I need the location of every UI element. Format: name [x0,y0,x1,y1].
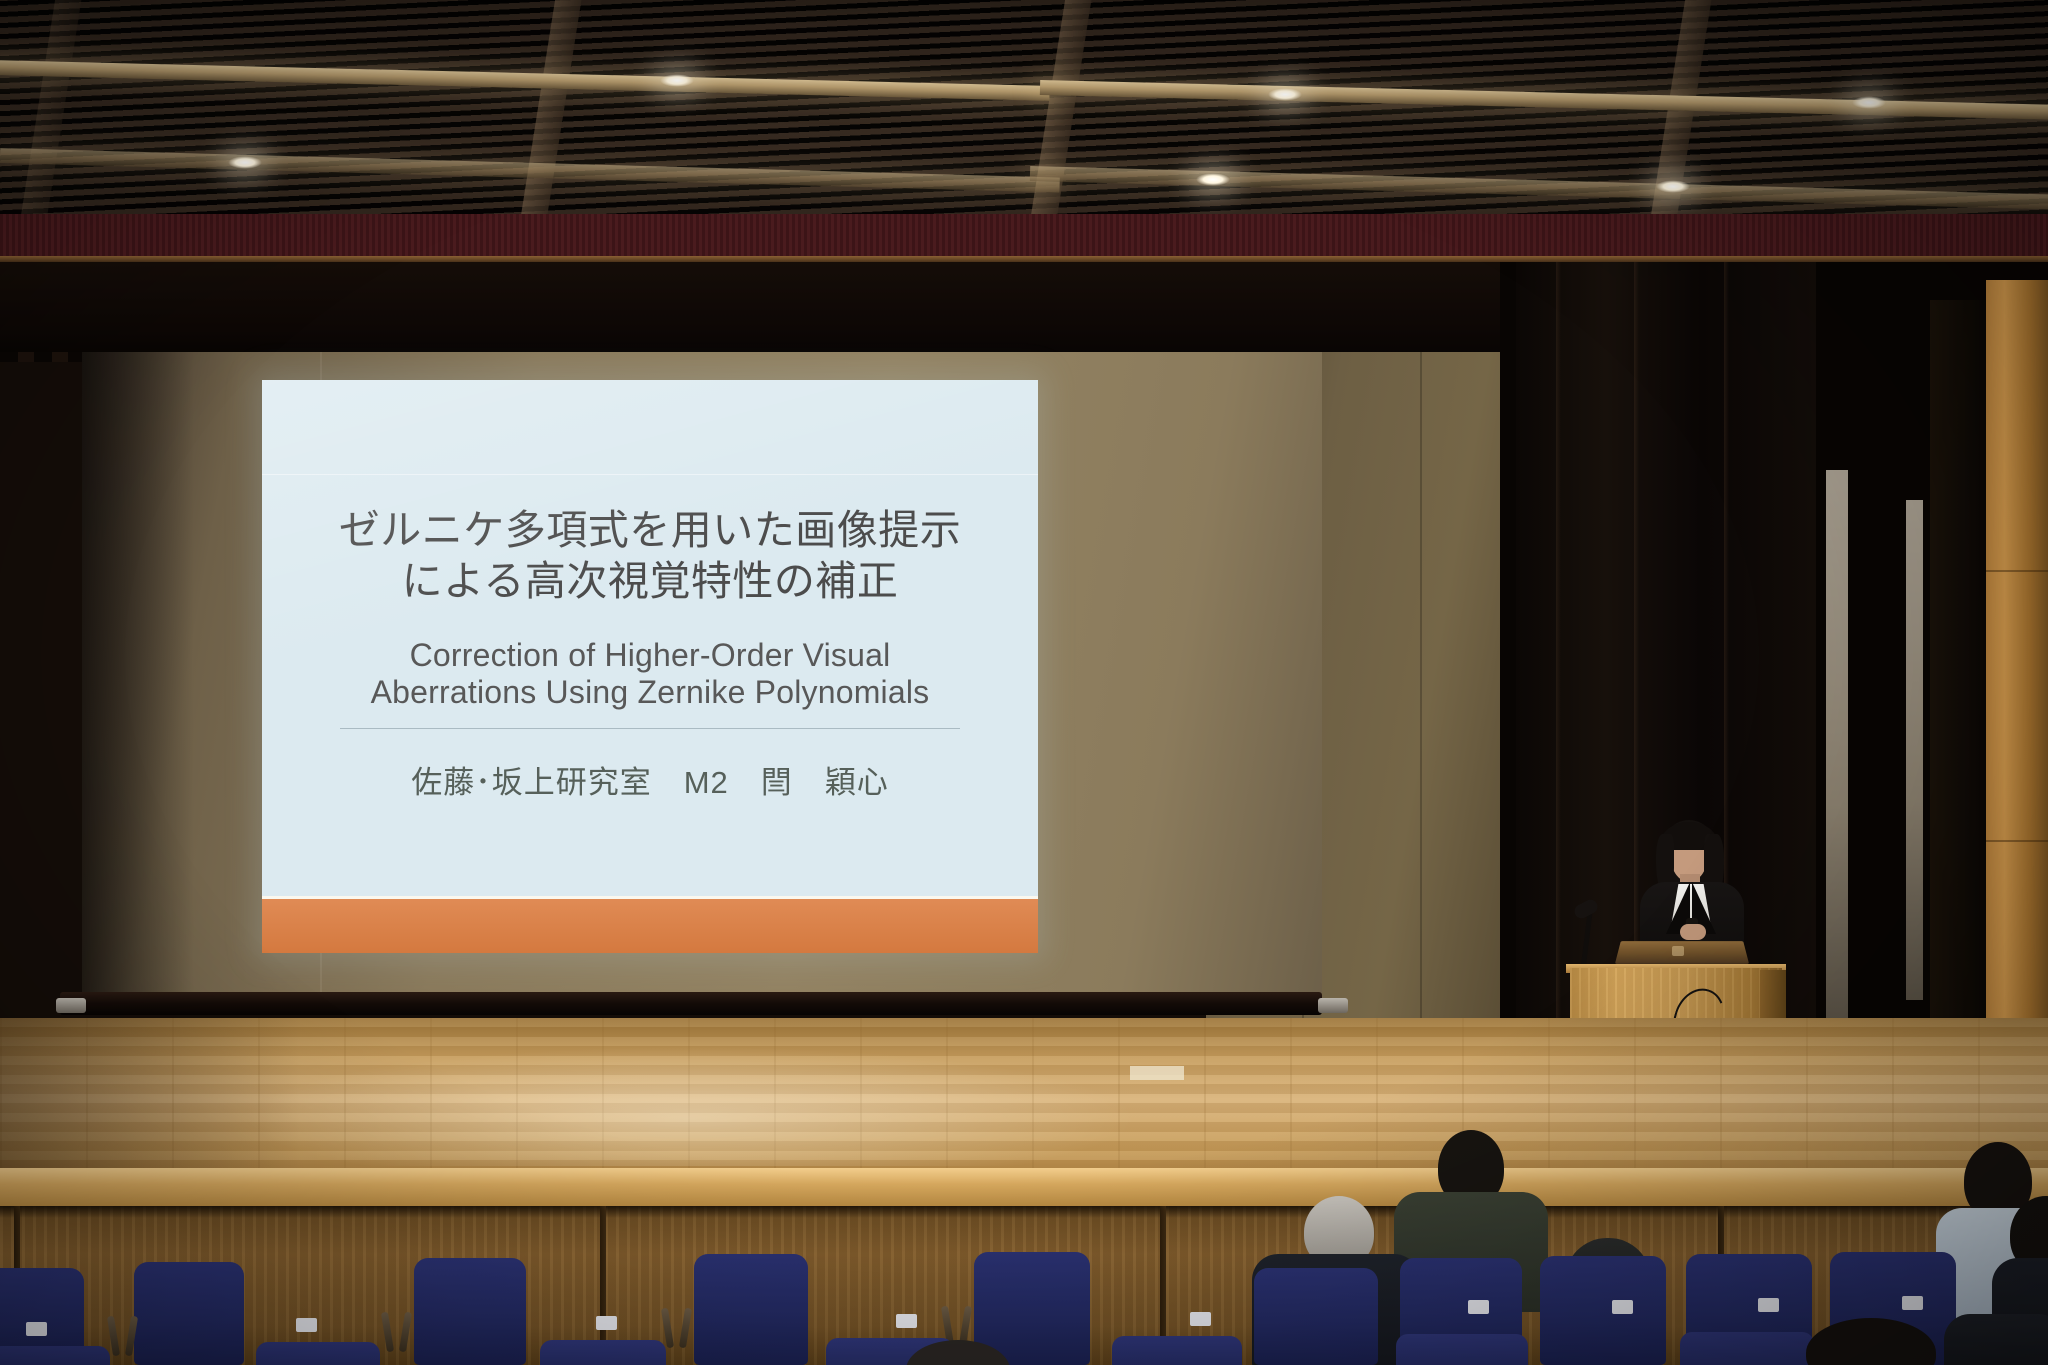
slide-title-line-1: ゼルニケ多項式を用いた画像提示 [339,505,962,556]
stage-front-lip [0,1168,2048,1208]
roller-end-cap [56,998,86,1013]
curtain-gap-dark [1848,262,1906,1062]
seat-number-tag [596,1316,617,1330]
panel-top-shadow [0,1206,2048,1218]
seat[interactable] [1254,1268,1378,1365]
ceiling [0,0,2048,232]
slide-title: ゼルニケ多項式を用いた画像提示 による高次視覚特性の補正 [339,505,962,607]
slide-author-line: 佐藤･坂上研究室 M2 閆 穎心 [411,757,889,802]
seat-number-tag [1758,1298,1779,1312]
panel-line [1986,570,2048,572]
seat[interactable] [256,1342,380,1365]
back-wall-gap [1905,500,1923,1000]
seat-number-tag [896,1314,917,1328]
slide-footer-bar [262,899,1038,953]
upper-wall-band [0,214,2048,260]
seat-number-tag [1190,1312,1211,1326]
seat[interactable] [1540,1256,1666,1365]
ceiling-spotlight [660,74,694,87]
slide-content: ゼルニケ多項式を用いた画像提示 による高次視覚特性の補正 Correction … [262,380,1038,953]
projected-slide: ゼルニケ多項式を用いた画像提示 による高次視覚特性の補正 Correction … [262,380,1038,953]
seat[interactable] [134,1262,244,1365]
panel-line [1986,840,2048,842]
audience-member-foreground-left [906,1340,1016,1365]
stage-floor [0,1018,2048,1188]
slide-subtitle-line-2: Aberrations Using Zernike Polynomials [371,674,930,712]
seat[interactable] [414,1258,526,1365]
roller-end-cap [1318,998,1348,1013]
seat-number-tag [296,1318,317,1332]
audience-member-foreground-far-right [1944,1300,2048,1365]
floor-marker-tag [1130,1066,1184,1080]
audience-member-foreground-right [1806,1318,1946,1365]
slide-subtitle-line-1: Correction of Higher-Order Visual [371,637,930,675]
laptop-logo [1672,946,1684,956]
seat[interactable] [1396,1334,1528,1365]
audience-head [1806,1318,1936,1365]
auditorium-presentation-photo: ゼルニケ多項式を用いた画像提示 による高次視覚特性の補正 Correction … [0,0,2048,1365]
ceiling-spotlight [1852,96,1886,109]
seat[interactable] [540,1340,666,1365]
seat-number-tag [1902,1296,1923,1310]
seat[interactable] [0,1346,110,1365]
floor-light-reflection [240,1046,1140,1166]
seat-number-tag [1612,1300,1633,1314]
audience-head [906,1340,1010,1365]
slide-title-line-2: による高次視覚特性の補正 [339,556,962,607]
right-wall-wood-panel [1986,280,2048,1070]
microphone-stand [1580,910,1593,972]
presenter-hands [1680,924,1706,940]
seat[interactable] [1680,1332,1814,1365]
screen-left-shadow [82,352,194,998]
curtain-fold [1556,262,1561,1072]
slide-subtitle: Correction of Higher-Order Visual Aberra… [371,637,930,713]
floor-left-shadow [0,1018,300,1188]
ceiling-spotlight [1268,88,1302,101]
ceiling-spotlight [1656,180,1690,193]
seat[interactable] [1112,1336,1242,1365]
ceiling-spotlight [1196,173,1230,186]
slide-divider-rule [340,728,960,729]
ceiling-spotlight [228,156,262,169]
screen-roller-bar [60,992,1322,1015]
seat-number-tag [26,1322,47,1336]
stage-curtain-far [1930,300,1988,1060]
audience-body [1944,1314,2048,1365]
wall-seam [1420,352,1422,1024]
seat[interactable] [694,1254,808,1365]
seat-number-tag [1468,1300,1489,1314]
